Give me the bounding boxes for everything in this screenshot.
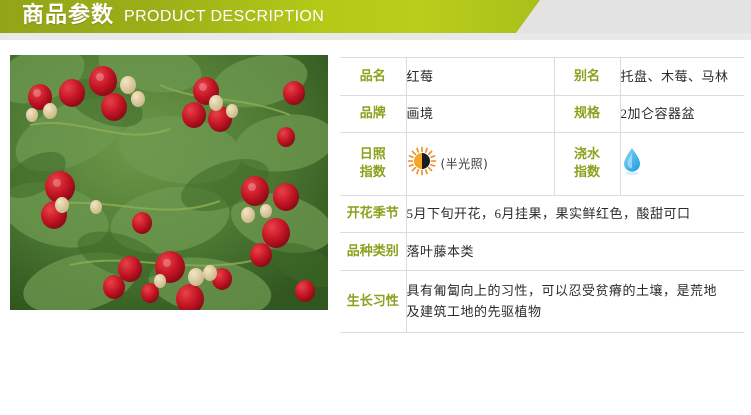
spec-label-6: 浇水 指数 — [554, 133, 620, 195]
header-gray-strip — [0, 33, 751, 40]
product-photo — [10, 55, 328, 310]
spec-label-5-text: 日照 指数 — [340, 146, 406, 181]
product-description-page: 商品参数 PRODUCT DESCRIPTION — [0, 0, 751, 415]
table-row: 品种类别 落叶藤本类 — [340, 233, 744, 271]
section-banner: 实物拍摄 \ Physical shooting 2. Physical sho… — [0, 336, 751, 415]
table-row: 品名 红莓 别名 托盘、木莓、马林 — [340, 58, 744, 96]
spec-value-2: 托盘、木莓、马林 — [620, 58, 744, 96]
spec-value-6 — [620, 133, 744, 195]
table-row: 生长习性 具有匍匐向上的习性，可以忍受贫瘠的土壤，是荒地及建筑工地的先驱植物 — [340, 271, 744, 333]
table-row: 日照 指数 — [340, 133, 744, 195]
spec-value-7: 5月下旬开花，6月挂果，果实鲜红色，酸甜可口 — [406, 195, 744, 233]
spec-value-3: 画境 — [406, 95, 554, 133]
spec-label-7: 开花季节 — [340, 195, 406, 233]
page-title-cn: 商品参数 — [22, 2, 114, 30]
spec-value-1: 红莓 — [406, 58, 554, 96]
spec-label-9: 生长习性 — [340, 271, 406, 333]
sun-note-label: (半光照) — [441, 155, 489, 173]
spec-label-4: 规格 — [554, 95, 620, 133]
specification-table: 品名 红莓 别名 托盘、木莓、马林 品牌 画境 规格 2加仑容器盆 日照 指数 — [340, 57, 744, 333]
spec-value-4: 2加仑容器盆 — [620, 95, 744, 133]
spec-label-2: 别名 — [554, 58, 620, 96]
spec-value-5: (半光照) — [406, 133, 554, 195]
spec-label-3: 品牌 — [340, 95, 406, 133]
spec-label-5: 日照 指数 — [340, 133, 406, 195]
spec-label-1: 品名 — [340, 58, 406, 96]
spec-label-8: 品种类别 — [340, 233, 406, 271]
spec-label-6-text: 浇水 指数 — [555, 146, 620, 181]
table-row: 品牌 画境 规格 2加仑容器盆 — [340, 95, 744, 133]
page-header: 商品参数 PRODUCT DESCRIPTION — [0, 0, 751, 42]
page-title-en: PRODUCT DESCRIPTION — [124, 7, 324, 27]
water-drop-icon — [621, 164, 643, 179]
table-row: 开花季节 5月下旬开花，6月挂果，果实鲜红色，酸甜可口 — [340, 195, 744, 233]
spec-value-8: 落叶藤本类 — [406, 233, 744, 271]
spec-value-9: 具有匍匐向上的习性，可以忍受贫瘠的土壤，是荒地及建筑工地的先驱植物 — [406, 271, 744, 333]
half-sun-icon — [407, 146, 437, 182]
